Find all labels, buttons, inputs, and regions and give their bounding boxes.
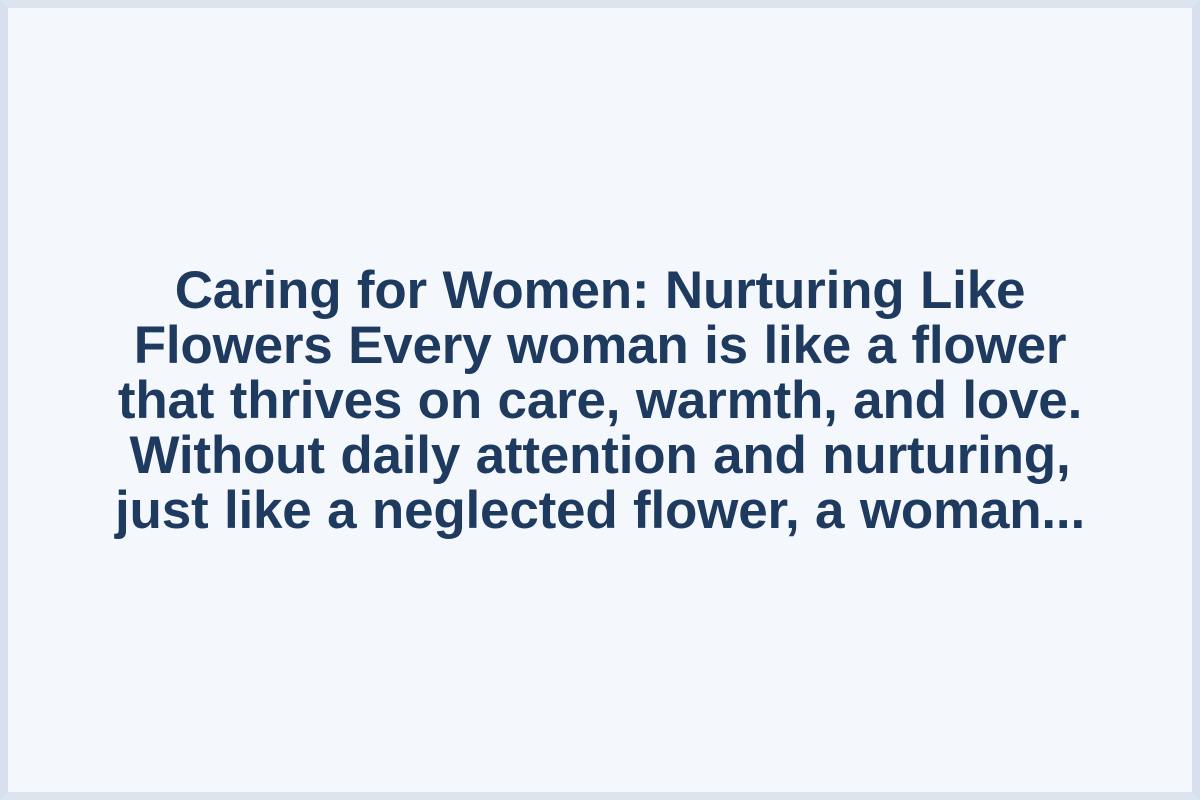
text-block: Caring for Women: Nurturing Like Flowers… (8, 263, 1192, 538)
headline-text: Caring for Women: Nurturing Like Flowers… (64, 263, 1136, 538)
headline-line-5: just like a neglected flower, a woman... (64, 483, 1136, 538)
headline-line-2: Flowers Every woman is like a flower (64, 318, 1136, 373)
text-card: Caring for Women: Nurturing Like Flowers… (0, 0, 1200, 800)
headline-line-4: Without daily attention and nurturing, (64, 428, 1136, 483)
headline-line-3: that thrives on care, warmth, and love. (64, 373, 1136, 428)
headline-line-1: Caring for Women: Nurturing Like (64, 263, 1136, 318)
